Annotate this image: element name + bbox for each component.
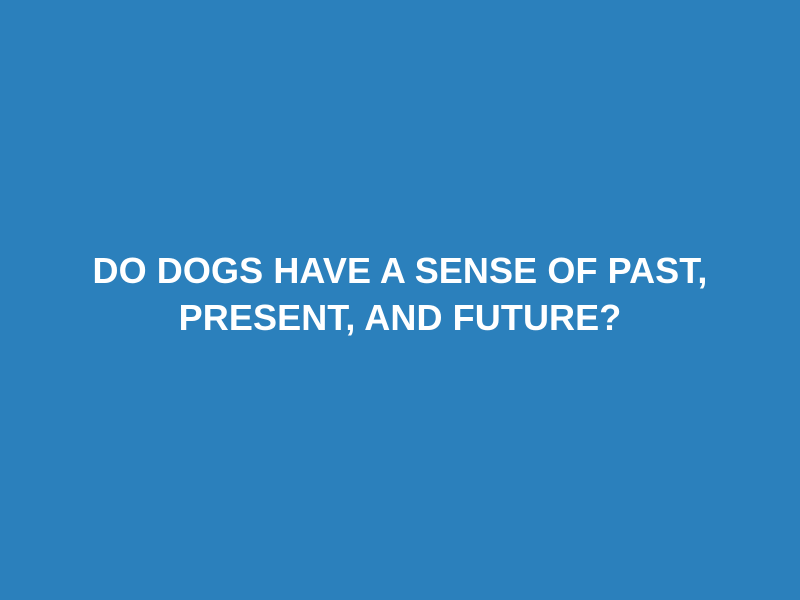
- title-block: Do dogs have a sense of past, present, a…: [0, 247, 800, 341]
- hero-banner: Do dogs have a sense of past, present, a…: [0, 0, 800, 600]
- page-title: Do dogs have a sense of past, present, a…: [60, 247, 740, 341]
